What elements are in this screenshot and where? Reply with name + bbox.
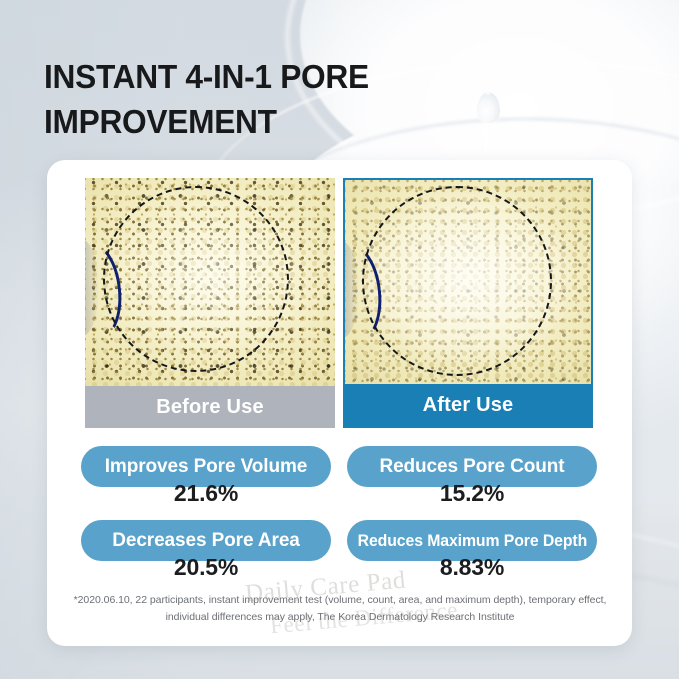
- microscope-image-after: [345, 180, 591, 386]
- stat-label: Improves Pore Volume: [105, 456, 308, 478]
- before-panel: Before Use: [85, 178, 335, 428]
- dashed-circle-marker: [103, 186, 289, 372]
- stat-value: 8.83%: [347, 554, 597, 581]
- stat-label: Reduces Maximum Pore Depth: [357, 531, 587, 551]
- stat-pill-grid: Improves Pore Volume 21.6% Reduces Pore …: [81, 446, 597, 592]
- after-panel: After Use: [343, 178, 593, 428]
- stat-value: 20.5%: [81, 554, 331, 581]
- stat-value: 21.6%: [81, 480, 331, 507]
- before-caption: Before Use: [85, 386, 335, 428]
- footnote-disclaimer: *2020.06.10, 22 participants, instant im…: [73, 592, 607, 626]
- after-caption: After Use: [345, 384, 591, 426]
- stat-value: 15.2%: [347, 480, 597, 507]
- microscope-image-before: [85, 178, 335, 386]
- before-caption-label: Before Use: [156, 396, 264, 419]
- after-caption-label: After Use: [423, 394, 514, 417]
- page-title: INSTANT 4-IN-1 PORE IMPROVEMENT: [44, 54, 457, 144]
- before-after-comparison: Before Use After Use: [85, 178, 593, 428]
- product-infographic: INSTANT 4-IN-1 PORE IMPROVEMENT Before U…: [0, 0, 679, 679]
- stat-item-pore-depth: Reduces Maximum Pore Depth 8.83%: [347, 520, 597, 592]
- stat-item-pore-count: Reduces Pore Count 15.2%: [347, 446, 597, 518]
- results-card: Before Use After Use: [47, 160, 632, 646]
- dashed-circle-marker: [362, 186, 552, 376]
- stat-item-pore-volume: Improves Pore Volume 21.6%: [81, 446, 331, 518]
- stat-label: Decreases Pore Area: [112, 530, 300, 552]
- stat-label: Reduces Pore Count: [379, 456, 564, 478]
- stat-item-pore-area: Decreases Pore Area 20.5%: [81, 520, 331, 592]
